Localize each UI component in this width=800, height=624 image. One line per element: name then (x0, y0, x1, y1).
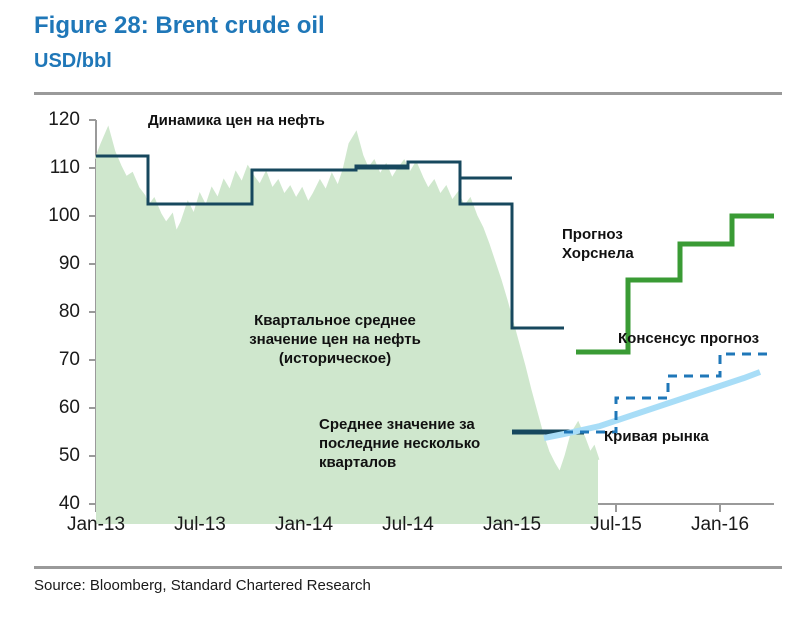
y-tick-label: 80 (34, 301, 80, 323)
x-tick-label: Jul-14 (353, 514, 463, 536)
x-tick-label: Jan-15 (457, 514, 567, 536)
annotation-quarterly-average: Квартальное среднее значение цен на нефт… (230, 312, 440, 368)
y-tick-label: 50 (34, 445, 80, 467)
source-note: Source: Bloomberg, Standard Chartered Re… (34, 577, 371, 594)
y-tick-label: 110 (34, 157, 80, 179)
annotation-horsnell-forecast: Прогноз Хорснела (562, 226, 634, 264)
annotation-market-curve: Кривая рынка (604, 428, 709, 447)
y-tick-label: 90 (34, 253, 80, 275)
annotation-recent-average: Среднее значение за последние несколько … (319, 416, 529, 472)
y-tick-label: 120 (34, 109, 80, 131)
chart-plot-area: 120 110 100 90 80 70 60 50 40 Jan-13 Jul… (34, 104, 782, 524)
annotation-consensus-forecast: Консенсус прогноз (618, 330, 759, 349)
annotation-spot-price: Динамика цен на нефть (148, 112, 325, 131)
divider-bottom (34, 566, 782, 569)
x-tick-label: Jul-15 (561, 514, 671, 536)
y-tick-marks (89, 120, 96, 504)
x-tick-label: Jul-13 (145, 514, 255, 536)
series-consensus-dashed (564, 354, 772, 432)
figure-subtitle: USD/bbl (34, 50, 112, 73)
y-tick-label: 100 (34, 205, 80, 227)
figure-title: Figure 28: Brent crude oil (34, 12, 325, 40)
divider-top (34, 92, 782, 95)
y-tick-label: 60 (34, 397, 80, 419)
y-tick-label: 40 (34, 493, 80, 515)
x-tick-label: Jan-14 (249, 514, 359, 536)
y-tick-label: 70 (34, 349, 80, 371)
figure-root: Figure 28: Brent crude oil USD/bbl (0, 0, 800, 624)
x-tick-label: Jan-16 (665, 514, 775, 536)
x-tick-label: Jan-13 (41, 514, 151, 536)
